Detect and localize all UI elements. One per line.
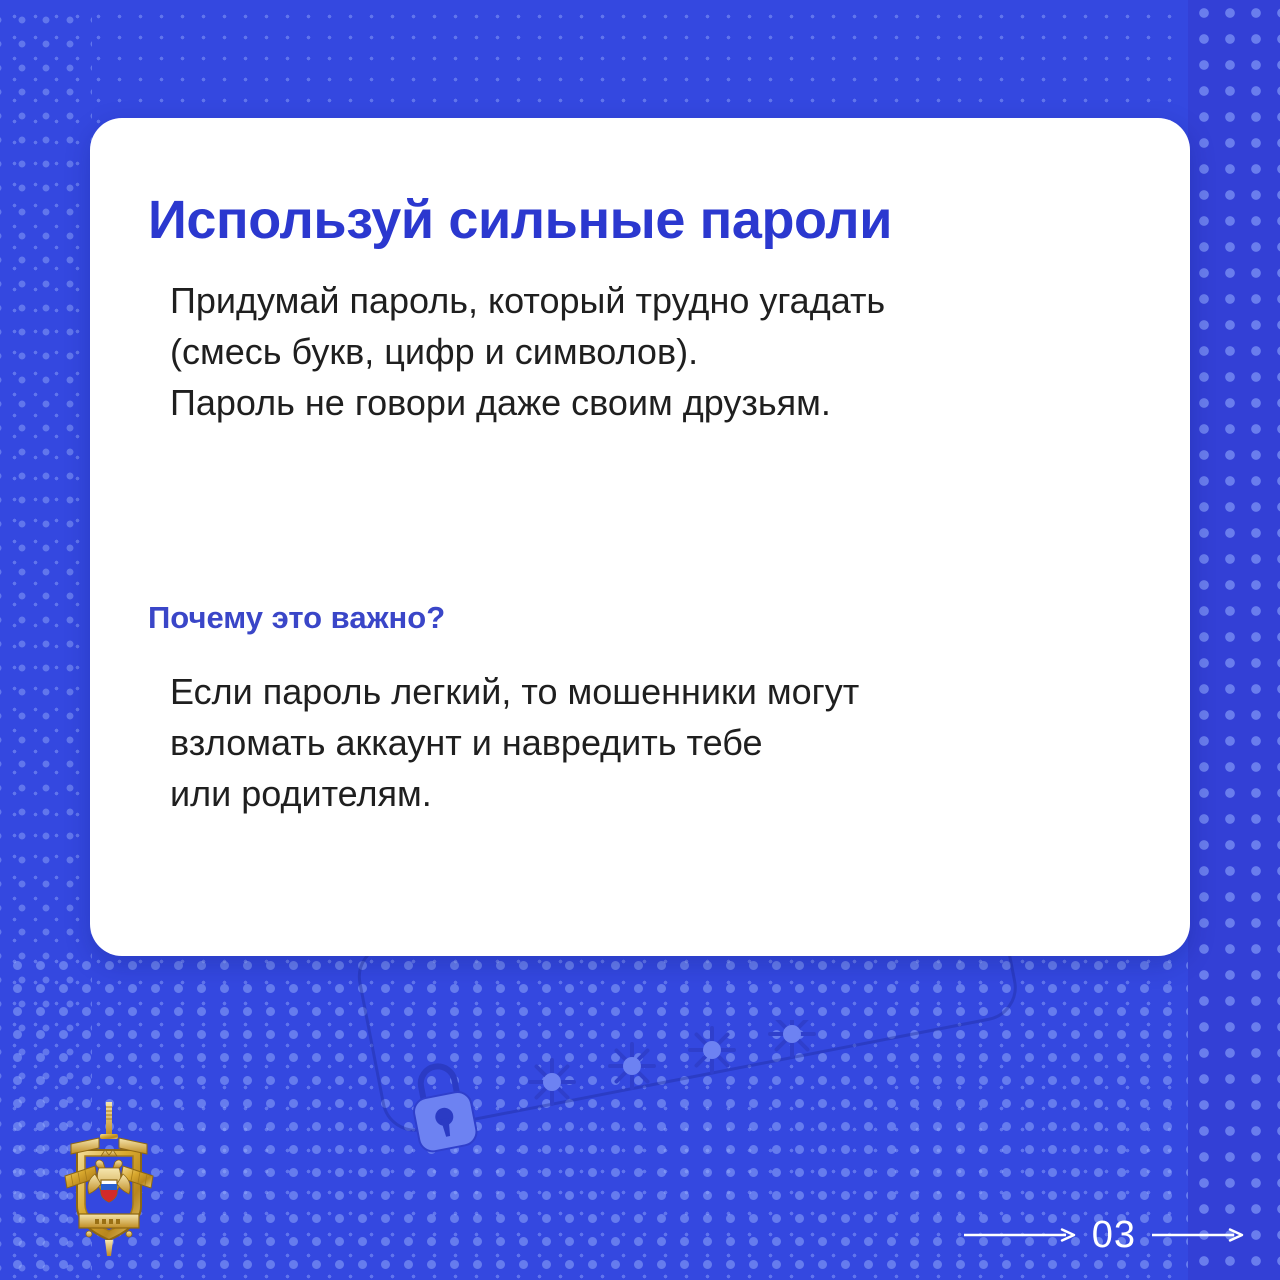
reason-line: Если пароль легкий, то мошенники могут — [170, 666, 1140, 717]
state-security-service-emblem — [55, 1098, 163, 1260]
reason-line: взломать аккаунт и навредить тебе — [170, 717, 1140, 768]
page-number: 03 — [1092, 1216, 1136, 1254]
arrow-right-icon — [962, 1226, 1078, 1244]
content-card: Используй сильные пароли Придумай пароль… — [90, 118, 1190, 956]
section-subtitle: Почему это важно? — [148, 600, 1140, 636]
background-dot-pattern-right — [1188, 0, 1280, 1280]
page-title: Используй сильные пароли — [148, 192, 1140, 249]
intro-line: Пароль не говори даже своим друзьям. — [170, 377, 1140, 428]
intro-paragraph: Придумай пароль, который трудно угадать … — [170, 275, 1140, 428]
intro-line: (смесь букв, цифр и символов). — [170, 326, 1140, 377]
section-spacer — [148, 428, 1140, 600]
card-content: Используй сильные пароли Придумай пароль… — [148, 192, 1140, 819]
reason-paragraph: Если пароль легкий, то мошенники могут в… — [170, 666, 1140, 819]
arrow-right-icon[interactable] — [1150, 1226, 1246, 1244]
slide-root: Используй сильные пароли Придумай пароль… — [0, 0, 1280, 1280]
intro-line: Придумай пароль, который трудно угадать — [170, 275, 1140, 326]
pagination: 03 — [962, 1212, 1246, 1258]
masked-password-asterisks — [520, 1020, 850, 1110]
reason-line: или родителям. — [170, 768, 1140, 819]
